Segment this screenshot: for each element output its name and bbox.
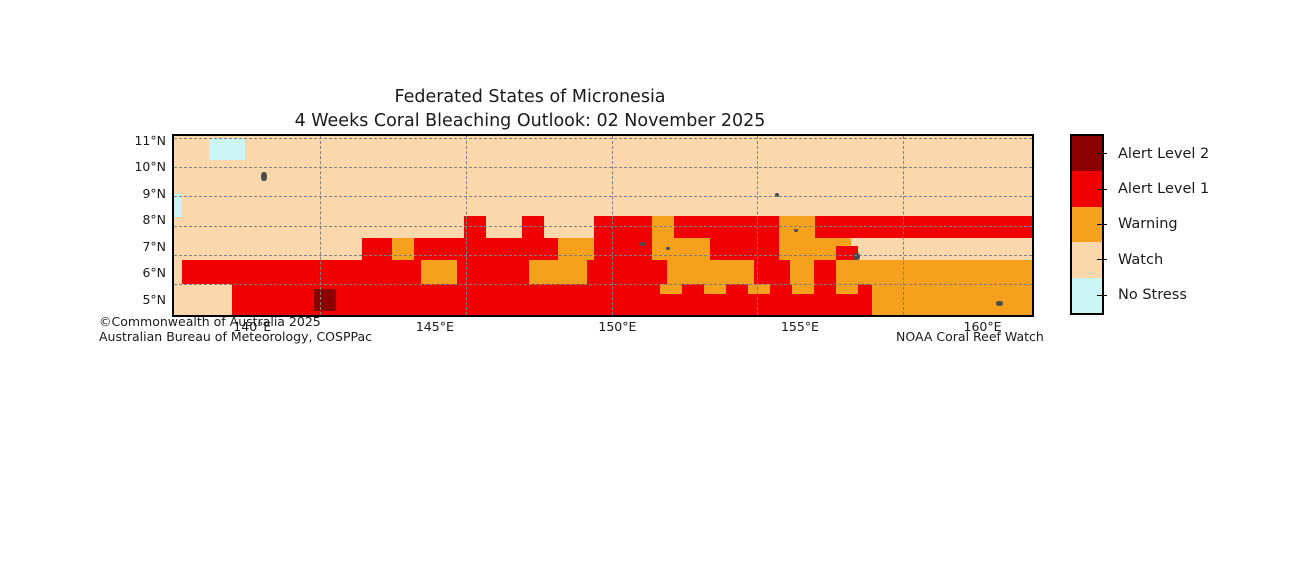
credit-noaa: NOAA Coral Reef Watch xyxy=(896,329,1044,344)
legend-item[interactable]: No Stress xyxy=(1104,278,1187,313)
credit-left: ©Commonwealth of Australia 2025 Australi… xyxy=(99,315,372,344)
legend-item-label: Warning xyxy=(1118,216,1178,232)
legend-tick-icon xyxy=(1097,224,1107,225)
legend-item[interactable]: Alert Level 2 xyxy=(1104,136,1209,171)
legend-item-label: Watch xyxy=(1118,252,1163,268)
legend-item[interactable]: Warning xyxy=(1104,207,1178,242)
credit-agency: Australian Bureau of Meteorology, COSPPa… xyxy=(99,330,372,345)
legend: Alert Level 2Alert Level 1WarningWatchNo… xyxy=(1070,134,1280,315)
x-axis-tick-label: 150°E xyxy=(572,319,662,334)
legend-item-label: Alert Level 1 xyxy=(1118,181,1209,197)
legend-item[interactable]: Watch xyxy=(1104,242,1163,277)
x-axis-tick-label: 155°E xyxy=(755,319,845,334)
legend-item-label: No Stress xyxy=(1118,287,1187,303)
legend-item[interactable]: Alert Level 1 xyxy=(1104,171,1209,206)
coral-bleaching-outlook-map: Federated States of Micronesia 4 Weeks C… xyxy=(0,0,1293,447)
x-axis-tick-label: 145°E xyxy=(390,319,480,334)
legend-tick-icon xyxy=(1097,153,1107,154)
legend-tick-icon xyxy=(1097,189,1107,190)
legend-tick-icon xyxy=(1097,259,1107,260)
legend-item-label: Alert Level 2 xyxy=(1118,146,1209,162)
legend-tick-icon xyxy=(1097,295,1107,296)
credit-copyright: ©Commonwealth of Australia 2025 xyxy=(99,315,372,330)
